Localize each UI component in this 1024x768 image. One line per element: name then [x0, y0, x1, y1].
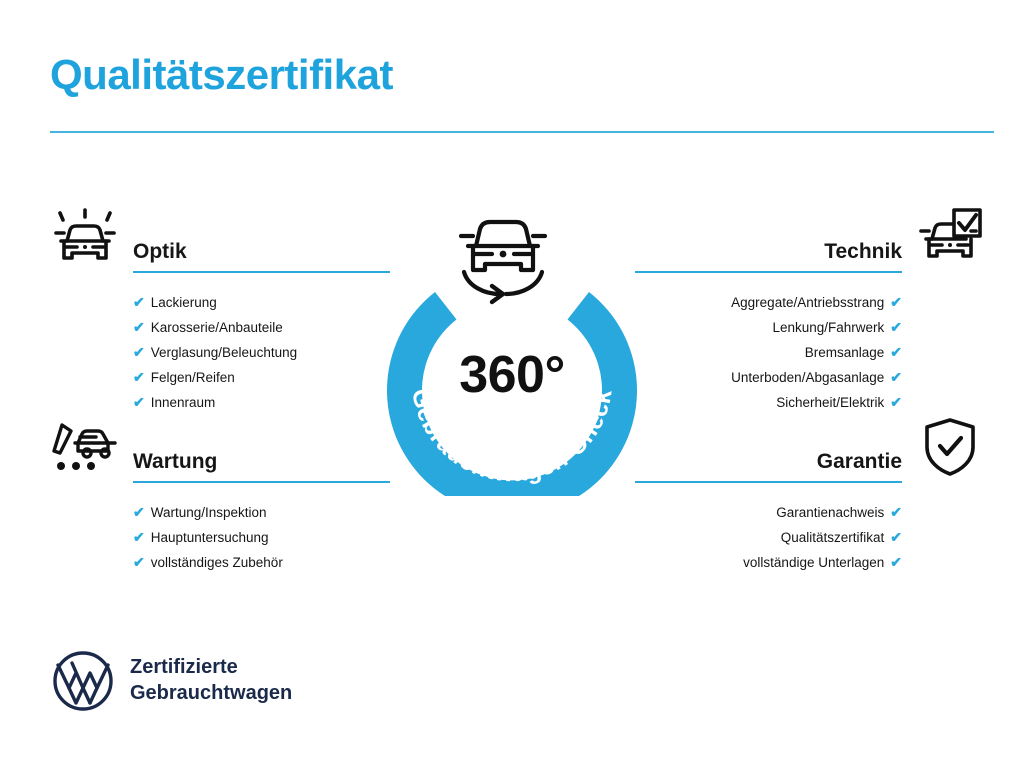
check-icon: ✔ [133, 525, 145, 549]
page-title: Qualitätszertifikat [50, 52, 393, 98]
vw-logo-icon [52, 650, 114, 712]
section-underline-garantie [635, 481, 902, 483]
check-icon: ✔ [133, 365, 145, 389]
list-item: Lenkung/Fahrwerk✔ [635, 315, 902, 340]
list-item-label: Unterboden/Abgasanlage [731, 366, 884, 390]
check-icon: ✔ [133, 290, 145, 314]
check-icon: ✔ [890, 340, 902, 364]
section-underline-technik [635, 271, 902, 273]
check-icon: ✔ [133, 315, 145, 339]
list-item: ✔Karosserie/Anbauteile [133, 315, 390, 340]
section-optik: Optik ✔Lackierung ✔Karosserie/Anbauteile… [45, 203, 390, 415]
list-item: ✔Lackierung [133, 290, 390, 315]
list-item-label: Qualitätszertifikat [781, 526, 885, 550]
section-technik: Technik Aggregate/Antriebsstrang✔ Lenkun… [635, 203, 990, 415]
vw-logo-line1: Zertifizierte [130, 655, 292, 681]
list-item-label: Innenraum [151, 391, 216, 415]
shield-check-icon [910, 413, 990, 481]
section-header-wartung: Wartung [45, 413, 390, 485]
checklist-optik: ✔Lackierung ✔Karosserie/Anbauteile ✔Verg… [45, 290, 390, 415]
section-title-wrap-technik: Technik [635, 241, 902, 273]
check-icon: ✔ [890, 365, 902, 389]
vw-certified-logo: Zertifizierte Gebrauchtwagen [52, 650, 292, 712]
section-garantie: Garantie Garantienachweis✔ Qualitätszert… [635, 413, 990, 575]
list-item-label: Felgen/Reifen [151, 366, 235, 390]
checklist-technik: Aggregate/Antriebsstrang✔ Lenkung/Fahrwe… [635, 290, 990, 415]
section-underline-optik [133, 271, 390, 273]
vw-logo-wordmark: Zertifizierte Gebrauchtwagen [130, 655, 292, 706]
list-item: ✔Felgen/Reifen [133, 365, 390, 390]
check-icon: ✔ [890, 290, 902, 314]
list-item-label: vollständiges Zubehör [151, 551, 283, 575]
list-item-label: Lackierung [151, 291, 217, 315]
section-title-wrap-wartung: Wartung [133, 451, 390, 483]
car-shine-icon [45, 203, 125, 271]
list-item: ✔Wartung/Inspektion [133, 500, 390, 525]
check-icon: ✔ [890, 500, 902, 524]
check-icon: ✔ [890, 315, 902, 339]
car-checkbox-icon [910, 203, 990, 271]
list-item-label: Karosserie/Anbauteile [151, 316, 283, 340]
car-service-pen-icon [45, 413, 125, 481]
check-icon: ✔ [133, 390, 145, 414]
title-divider [50, 131, 994, 133]
list-item: vollständige Unterlagen✔ [635, 550, 902, 575]
badge-center-label: 360° [459, 346, 565, 404]
list-item: ✔vollständiges Zubehör [133, 550, 390, 575]
list-item-label: Sicherheit/Elektrik [776, 391, 884, 415]
section-title-optik: Optik [133, 241, 390, 271]
list-item: Bremsanlage✔ [635, 340, 902, 365]
checklist-garantie: Garantienachweis✔ Qualitätszertifikat✔ v… [635, 500, 990, 575]
list-item: Unterboden/Abgasanlage✔ [635, 365, 902, 390]
check-icon: ✔ [133, 550, 145, 574]
badge-360-gebrauchtwagen-check: Gebrauchtwagen-Check 360° [374, 196, 650, 496]
list-item: ✔Hauptuntersuchung [133, 525, 390, 550]
section-title-garantie: Garantie [635, 451, 902, 481]
list-item-label: vollständige Unterlagen [743, 551, 884, 575]
list-item-label: Lenkung/Fahrwerk [772, 316, 884, 340]
list-item-label: Bremsanlage [805, 341, 885, 365]
list-item: Qualitätszertifikat✔ [635, 525, 902, 550]
section-title-wrap-garantie: Garantie [635, 451, 902, 483]
list-item: Aggregate/Antriebsstrang✔ [635, 290, 902, 315]
check-icon: ✔ [133, 500, 145, 524]
list-item: ✔Innenraum [133, 390, 390, 415]
list-item-label: Hauptuntersuchung [151, 526, 269, 550]
car-rotate-360-icon [461, 222, 545, 302]
check-icon: ✔ [890, 390, 902, 414]
section-wartung: Wartung ✔Wartung/Inspektion ✔Hauptunters… [45, 413, 390, 575]
section-header-optik: Optik [45, 203, 390, 275]
vw-logo-line2: Gebrauchtwagen [130, 681, 292, 707]
list-item-label: Wartung/Inspektion [151, 501, 267, 525]
check-icon: ✔ [133, 340, 145, 364]
list-item-label: Garantienachweis [776, 501, 884, 525]
section-title-technik: Technik [635, 241, 902, 271]
list-item: Sicherheit/Elektrik✔ [635, 390, 902, 415]
checklist-wartung: ✔Wartung/Inspektion ✔Hauptuntersuchung ✔… [45, 500, 390, 575]
section-header-garantie: Garantie [635, 413, 990, 485]
section-title-wrap-optik: Optik [133, 241, 390, 273]
check-icon: ✔ [890, 525, 902, 549]
list-item-label: Verglasung/Beleuchtung [151, 341, 297, 365]
section-title-wartung: Wartung [133, 451, 390, 481]
certificate-page: Qualitätszertifikat Optik ✔La [0, 0, 1024, 768]
section-underline-wartung [133, 481, 390, 483]
list-item-label: Aggregate/Antriebsstrang [731, 291, 884, 315]
section-header-technik: Technik [635, 203, 990, 275]
list-item: ✔Verglasung/Beleuchtung [133, 340, 390, 365]
list-item: Garantienachweis✔ [635, 500, 902, 525]
check-icon: ✔ [890, 550, 902, 574]
